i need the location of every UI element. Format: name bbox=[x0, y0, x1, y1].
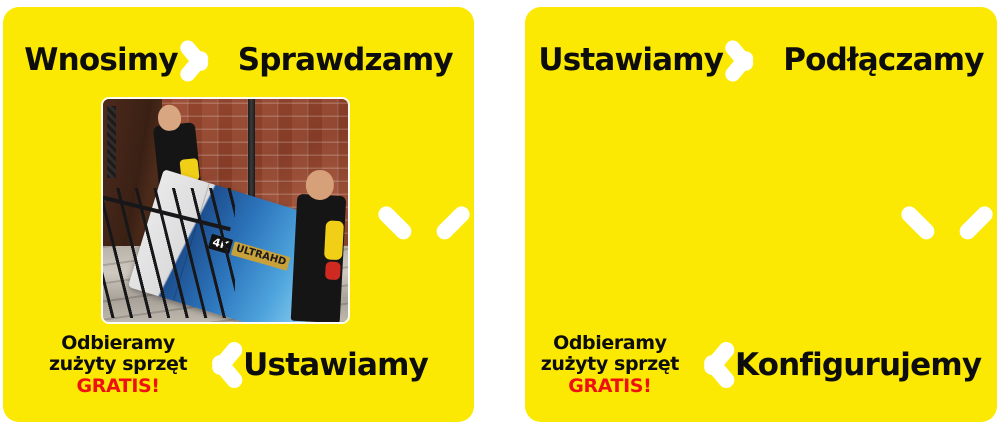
card-2-recycle-line-1: Odbieramy bbox=[553, 332, 667, 354]
card-2-recycle-free-badge: GRATIS! bbox=[541, 376, 679, 397]
card-2-footer-row: Odbieramy zużyty sprzęt GRATIS! Konfigur… bbox=[525, 326, 997, 404]
worker-lower bbox=[291, 194, 347, 322]
chevron-left-icon bbox=[685, 334, 729, 396]
card-2-step-3-label: Konfigurujemy bbox=[735, 350, 981, 381]
card-1-recycle-line-1: Odbieramy bbox=[61, 332, 175, 354]
card-1-step-1-label: Wnosimy bbox=[24, 45, 178, 76]
service-card-delivery[interactable]: Wnosimy Sprawdzamy bbox=[3, 7, 474, 422]
chevron-right-icon bbox=[731, 32, 775, 88]
card-2-recycle-line-2: zużyty sprzęt bbox=[541, 353, 679, 375]
service-card-installation[interactable]: Ustawiamy Podłączamy bbox=[525, 7, 997, 422]
card-2-step-2-label: Podłączamy bbox=[783, 45, 983, 76]
card-2-step-1-label: Ustawiamy bbox=[538, 45, 723, 76]
service-steps-board: Wnosimy Sprawdzamy bbox=[0, 0, 1000, 429]
card-1-step-2-label: Sprawdzamy bbox=[238, 45, 453, 76]
card-1-recycling-note: Odbieramy zużyty sprzęt GRATIS! bbox=[49, 333, 187, 397]
door-grill bbox=[107, 106, 116, 179]
chevron-left-icon bbox=[193, 334, 237, 396]
chevron-right-icon bbox=[186, 32, 230, 88]
stair-railing bbox=[103, 188, 235, 317]
card-1-header-row: Wnosimy Sprawdzamy bbox=[3, 31, 474, 89]
card-1-chevron-down-icon bbox=[390, 193, 460, 243]
card-1-footer-row: Odbieramy zużyty sprzęt GRATIS! Ustawiam… bbox=[3, 326, 474, 404]
card-2-chevron-down-icon bbox=[913, 193, 983, 243]
card-2-header-row: Ustawiamy Podłączamy bbox=[525, 31, 997, 89]
tv-box-ultrahd-label: ULTRAHD bbox=[232, 240, 291, 269]
card-2-recycling-note: Odbieramy zużyty sprzęt GRATIS! bbox=[541, 333, 679, 397]
card-1-recycle-free-badge: GRATIS! bbox=[49, 376, 187, 397]
card-1-recycle-line-2: zużyty sprzęt bbox=[49, 353, 187, 375]
card-1-photo: 4K ULTRAHD bbox=[101, 97, 350, 324]
card-1-step-3-label: Ustawiamy bbox=[243, 350, 428, 381]
